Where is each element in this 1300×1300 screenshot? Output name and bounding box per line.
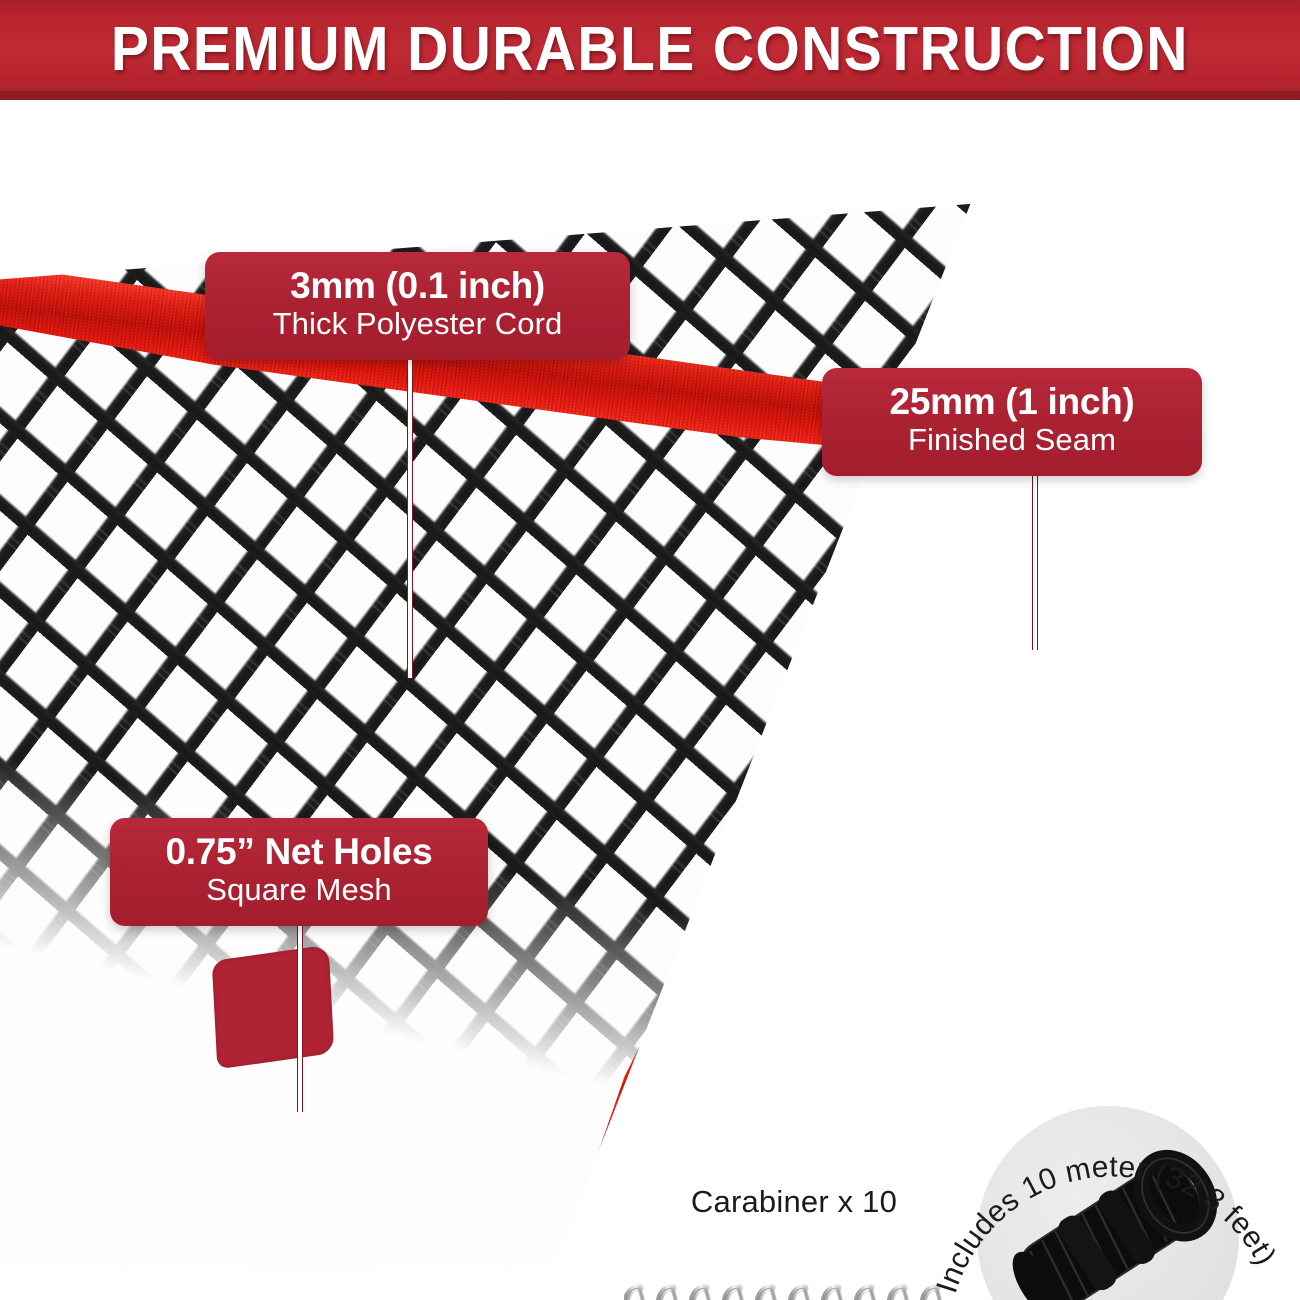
callout-seam-title: 25mm (1 inch)	[844, 381, 1180, 422]
callout-thick-polyester-cord: 3mm (0.1 inch) Thick Polyester Cord	[205, 252, 630, 360]
carabiner-clip-icon	[624, 1280, 964, 1300]
infographic-page: PREMIUM DURABLE CONSTRUCTION	[0, 0, 1300, 1300]
page-title: PREMIUM DURABLE CONSTRUCTION	[94, 19, 1205, 81]
callout-cord-subtitle: Thick Polyester Cord	[227, 306, 608, 343]
callout-seam-subtitle: Finished Seam	[844, 422, 1180, 459]
leader-line-cord	[407, 358, 413, 678]
highlighted-mesh-hole-icon	[212, 945, 335, 1070]
carabiner-label: Carabiner x 10	[624, 1184, 964, 1220]
product-photo-stage: Includes 10 meter (32.8 feet) Carabiner …	[0, 100, 1300, 1300]
callout-net-holes: 0.75” Net Holes Square Mesh	[110, 818, 488, 926]
callout-holes-title: 0.75” Net Holes	[132, 831, 466, 872]
callout-finished-seam: 25mm (1 inch) Finished Seam	[822, 368, 1202, 476]
leader-line-seam	[1032, 465, 1038, 650]
header-banner: PREMIUM DURABLE CONSTRUCTION	[0, 0, 1300, 100]
leader-line-holes	[297, 912, 303, 1112]
callout-holes-subtitle: Square Mesh	[132, 872, 466, 909]
callout-cord-title: 3mm (0.1 inch)	[227, 265, 608, 306]
